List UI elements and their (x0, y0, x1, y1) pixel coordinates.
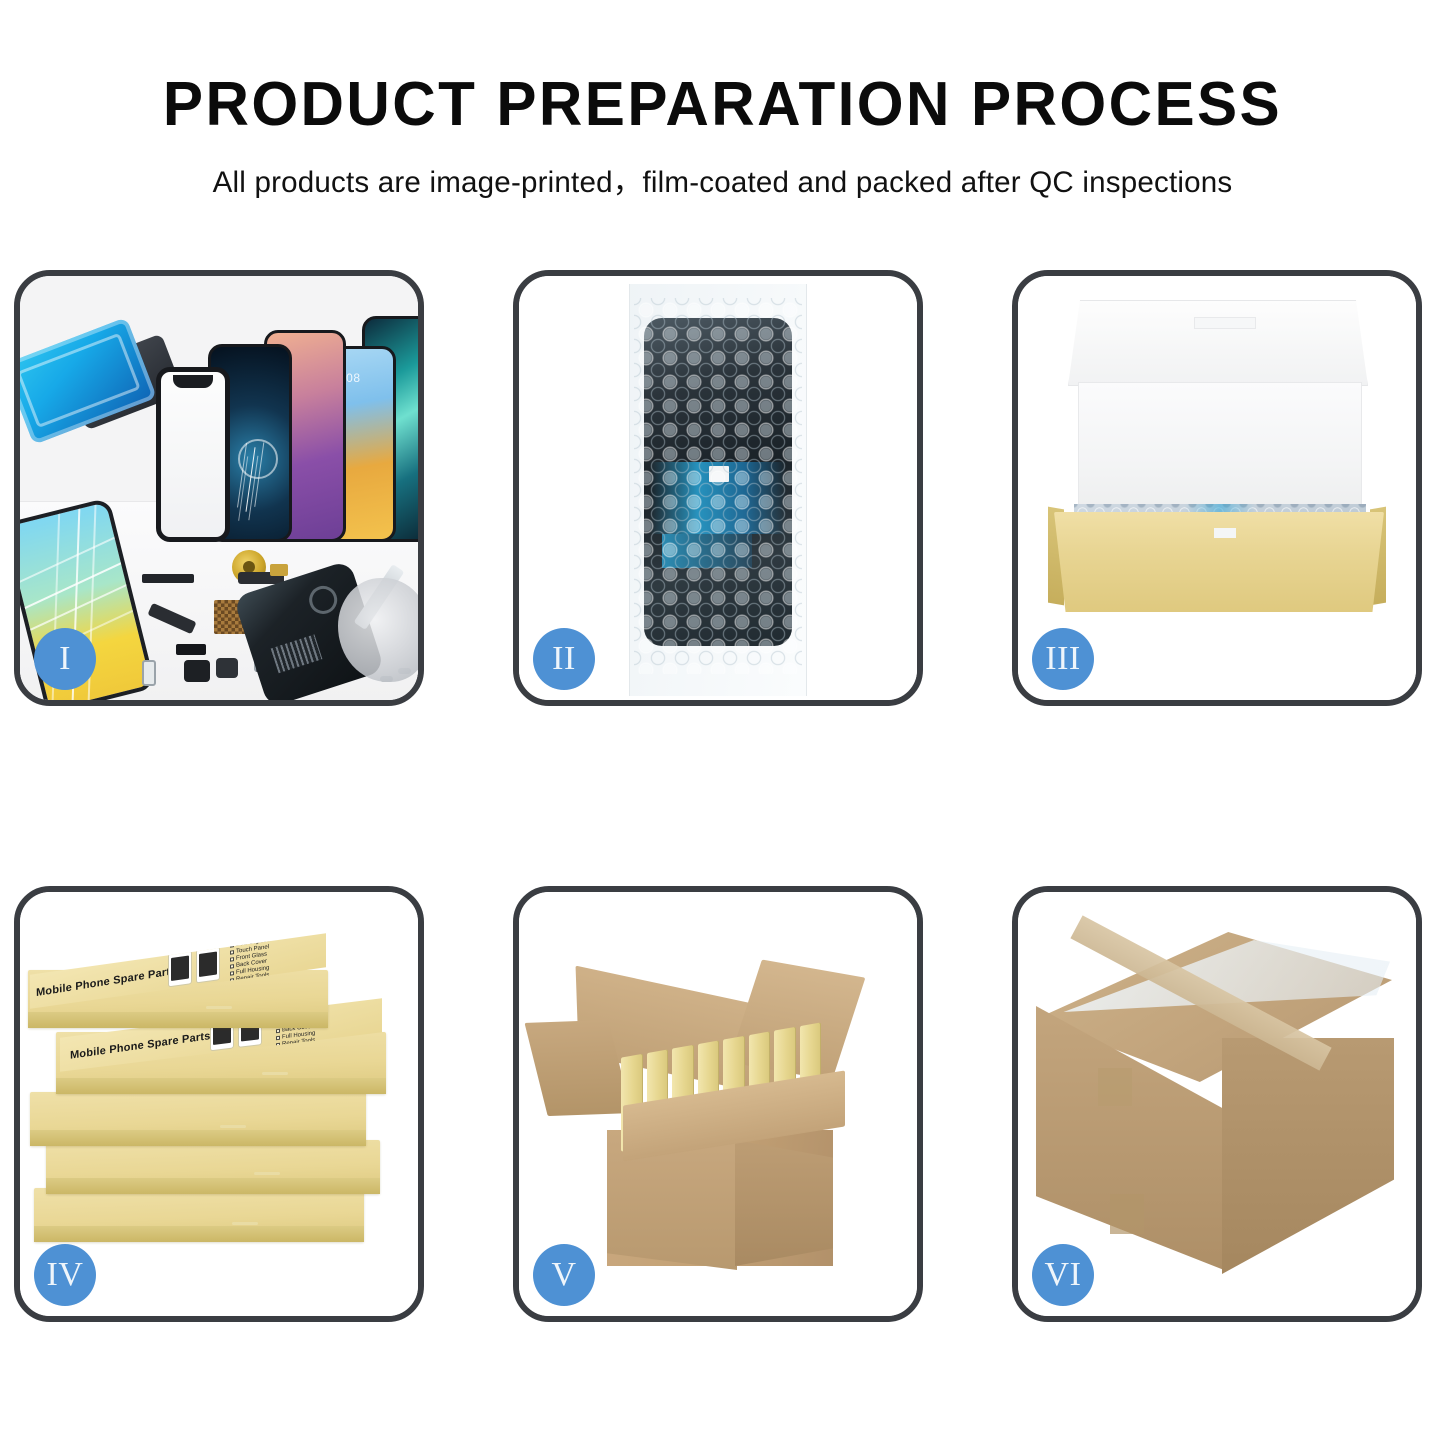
page-subtitle: All products are image-printed，film-coat… (11, 157, 1434, 201)
step-badge-4: IV (34, 1244, 96, 1306)
box-edge (34, 1226, 364, 1242)
checkbox-icon (276, 1029, 280, 1033)
box-lid-open-flap (1068, 300, 1368, 386)
step-panel-5[interactable]: V (513, 886, 923, 1322)
process-steps-grid: I II III (14, 270, 1431, 1322)
stacked-box-4 (46, 1140, 380, 1194)
box-edge (30, 1130, 366, 1146)
box-clip (220, 1125, 246, 1128)
step-panel-4[interactable]: Mobile Phone Spare Parts LCD Digitizer T… (14, 886, 424, 1322)
box-edge (46, 1178, 380, 1194)
step-badge-3: III (1032, 628, 1094, 690)
step-badge-6: VI (1032, 1244, 1094, 1306)
checkbox-icon (230, 950, 234, 955)
step-panel-3[interactable]: III (1012, 270, 1422, 706)
box-clip (262, 1072, 288, 1075)
phone-screen-fan (152, 294, 418, 542)
tape-patch-lower (1110, 1194, 1144, 1234)
blue-film-band-secondary (662, 534, 752, 568)
step-panel-6[interactable]: VI (1012, 886, 1422, 1322)
step-panel-1[interactable]: I (14, 270, 424, 706)
checkbox-icon (230, 943, 234, 948)
stacked-box-5 (34, 1188, 364, 1242)
camera-module-part (184, 660, 210, 682)
tape-patch-upper (1098, 1068, 1132, 1106)
item-label-sticker (1214, 528, 1236, 538)
label-phone-image-b (196, 946, 220, 983)
step-badge-1: I (34, 628, 96, 690)
box-clip (206, 1006, 232, 1009)
volume-flex-cable-part (147, 603, 196, 634)
checkbox-icon (276, 1036, 280, 1040)
box-lid-inner-face (1078, 382, 1362, 522)
step-badge-5: V (533, 1244, 595, 1306)
carton-side-face (1222, 1038, 1394, 1274)
phone-screen-front-glass-clear (156, 367, 230, 542)
sim-tray-part (142, 660, 156, 686)
label-phone-image-a (168, 950, 192, 987)
carton-right-face (735, 1140, 833, 1266)
step-panel-2[interactable]: II (513, 270, 923, 706)
wrapped-screen-assembly (644, 318, 792, 646)
checkbox-icon (230, 964, 234, 969)
product-label-sticker (709, 466, 729, 482)
sealed-carton (1036, 922, 1396, 1286)
header: PRODUCT PREPARATION PROCESS All products… (0, 0, 1445, 201)
step-badge-2: II (533, 628, 595, 690)
gift-box-label-phone-images (168, 946, 220, 987)
stacked-box-3 (30, 1092, 366, 1146)
box-clip (254, 1172, 280, 1175)
checkbox-icon (230, 957, 234, 962)
box-edge (56, 1078, 386, 1094)
box-clip (232, 1222, 258, 1225)
box-lid-tab (1194, 317, 1256, 329)
antenna-bar-part (142, 574, 194, 583)
earpiece-speaker-part (216, 658, 238, 678)
small-chip-part (176, 644, 206, 655)
box-edge (28, 1012, 328, 1028)
page-title: PRODUCT PREPARATION PROCESS (22, 72, 1424, 137)
checkbox-icon (230, 971, 234, 976)
